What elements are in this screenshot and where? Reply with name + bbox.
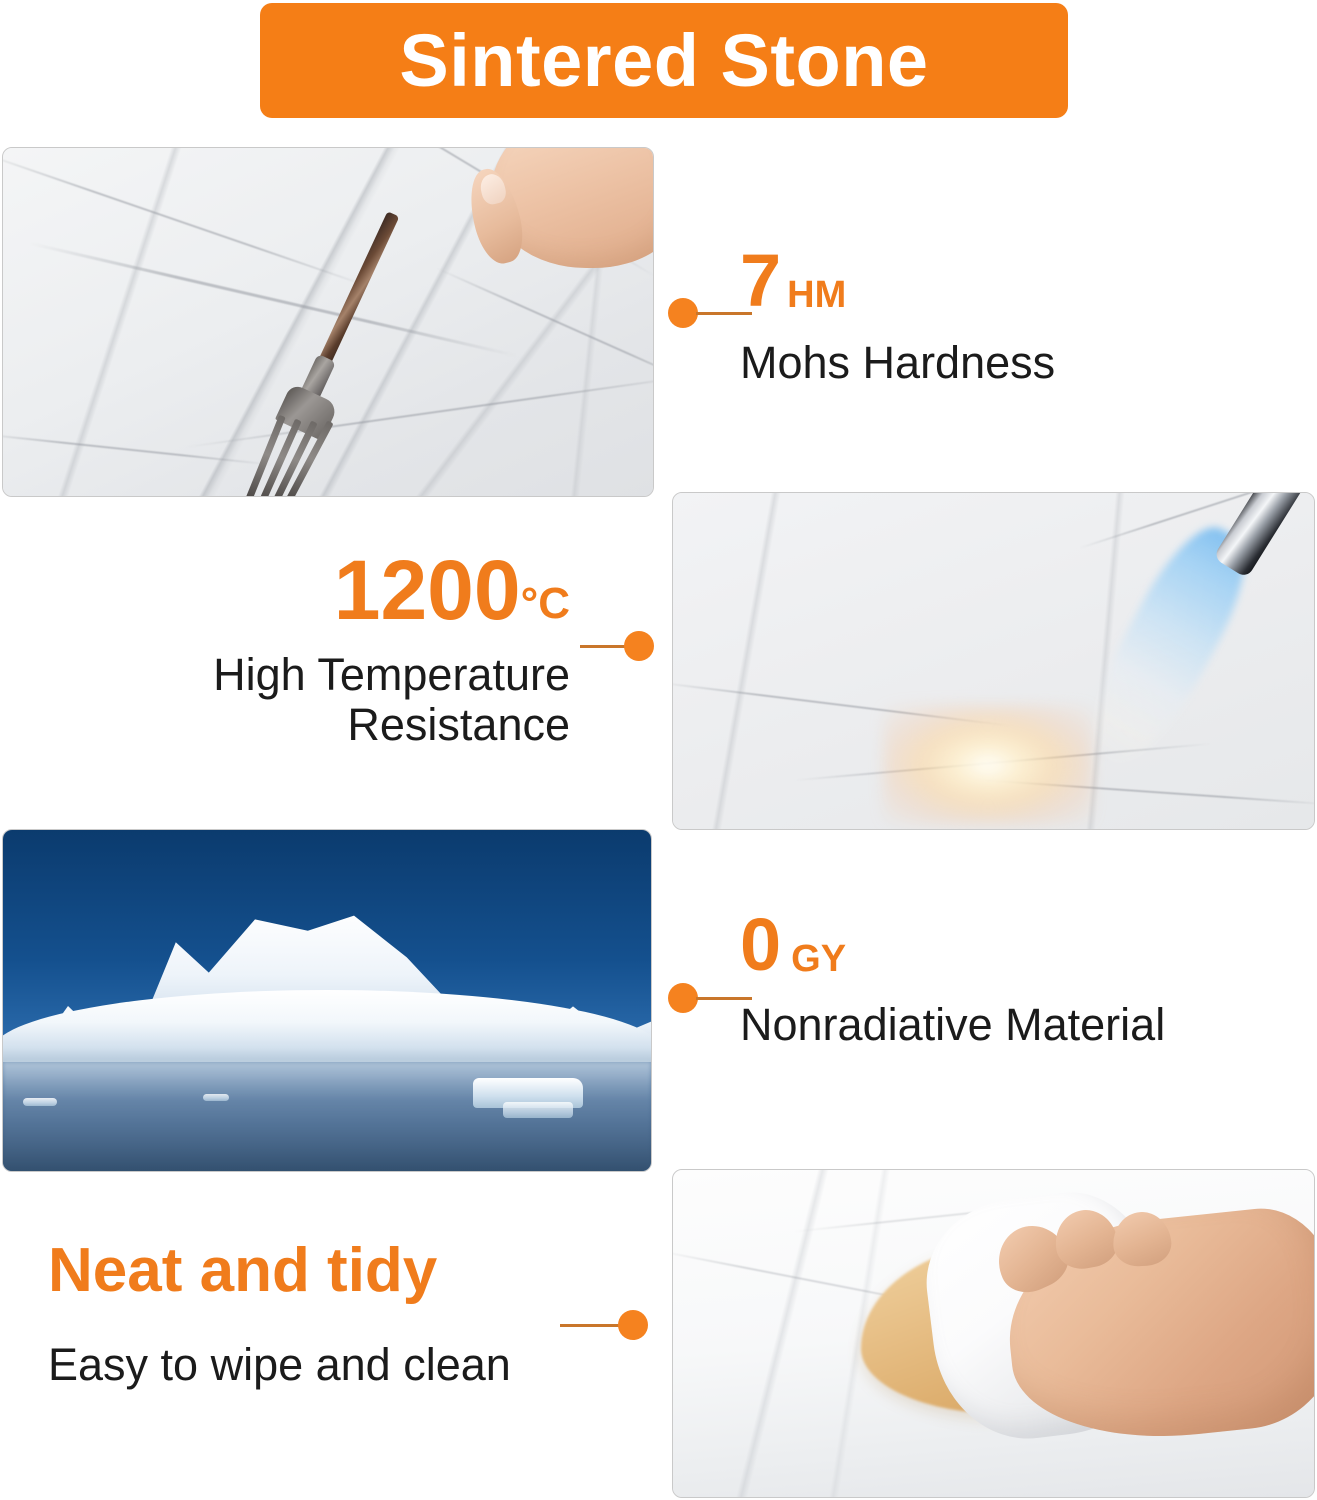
connector-line (560, 1324, 624, 1327)
panel-wipe-clean (672, 1169, 1315, 1498)
radiation-description: Nonradiative Material (740, 1000, 1165, 1050)
feature-mohs-hardness: 7 HM Mohs Hardness (740, 244, 1055, 388)
infographic-page: Sintered Stone (0, 0, 1317, 1500)
wipe-photo (673, 1170, 1314, 1497)
hardness-description: Mohs Hardness (740, 338, 1055, 388)
radiation-unit: GY (791, 940, 846, 982)
fork-photo (3, 148, 653, 496)
mountain-photo (3, 830, 651, 1171)
connector-dot-icon (668, 298, 698, 328)
panel-antarctic-mountains (2, 829, 652, 1172)
connector-line (580, 645, 630, 648)
clean-headline: Neat and tidy (48, 1240, 511, 1302)
hardness-value: 7 (740, 244, 781, 318)
flame-hotspot (883, 705, 1093, 825)
flame-photo (673, 493, 1314, 829)
feature-value-row: 7 HM (740, 244, 1055, 318)
iceberg (503, 1102, 573, 1118)
temperature-unit: °C (521, 582, 570, 632)
header-banner: Sintered Stone (260, 3, 1068, 118)
panel-torch-flame (672, 492, 1315, 830)
panel-fork-on-marble (2, 147, 654, 497)
ice-floe (203, 1094, 229, 1101)
temperature-value: 1200 (334, 548, 521, 632)
connector-dot-icon (624, 631, 654, 661)
page-title: Sintered Stone (399, 24, 928, 98)
feature-nonradiative: 0 GY Nonradiative Material (740, 908, 1165, 1050)
hardness-unit: HM (787, 276, 846, 318)
feature-high-temperature: 1200 °C High Temperature Resistance (100, 548, 570, 751)
clean-description: Easy to wipe and clean (48, 1340, 511, 1390)
connector-clean (560, 1310, 680, 1340)
radiation-value: 0 (740, 908, 781, 982)
fork (239, 208, 469, 497)
connector-dot-icon (668, 983, 698, 1013)
feature-value-row: 0 GY (740, 908, 1165, 982)
connector-dot-icon (618, 1310, 648, 1340)
temperature-description: High Temperature Resistance (100, 650, 570, 751)
feature-value-row: 1200 °C (100, 548, 570, 632)
connector-temperature (580, 631, 700, 661)
feature-neat-and-tidy: Neat and tidy Easy to wipe and clean (48, 1240, 511, 1390)
ice-floe (23, 1098, 57, 1106)
